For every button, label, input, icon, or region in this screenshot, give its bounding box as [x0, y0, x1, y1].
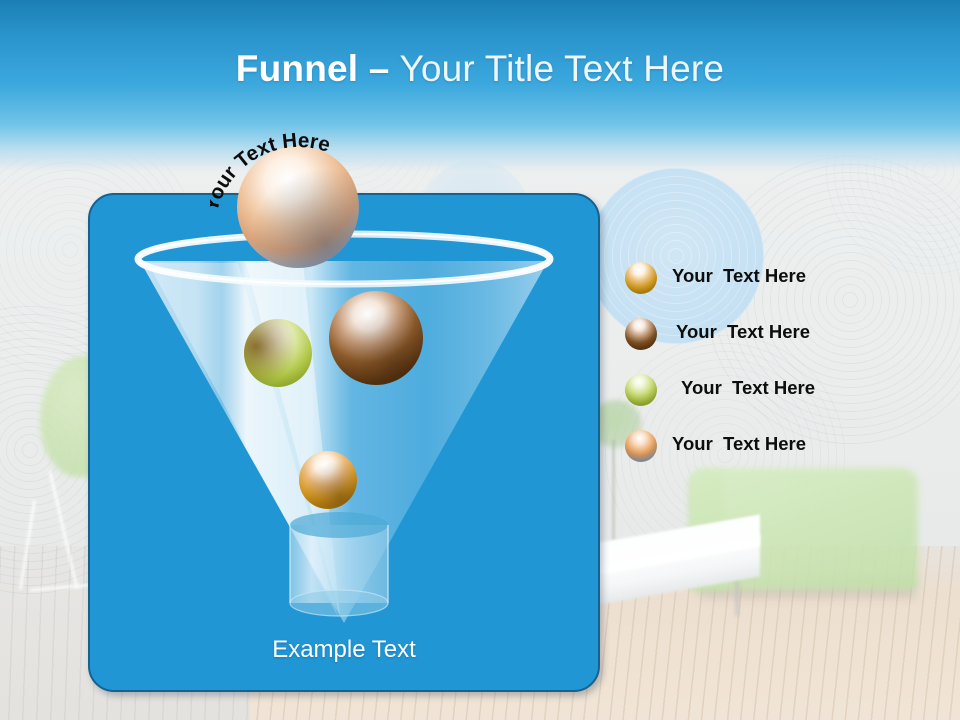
legend-item-label: Your Text Here — [672, 265, 806, 287]
bullet-sphere-gold-icon — [624, 261, 658, 295]
bullet-sphere-green-icon — [624, 373, 658, 407]
legend-item-label: Your Text Here — [672, 433, 806, 455]
bullet-sphere-tan-icon — [624, 429, 658, 463]
legend-item-label: Your Text Here — [676, 321, 810, 343]
slide-canvas: Funnel – Your Title Text Here Example Te… — [0, 0, 960, 720]
funnel-top-ball-group: Your Text Here — [210, 125, 395, 270]
legend-item[interactable]: Your Text Here — [624, 367, 944, 423]
panel-caption: Example Text — [90, 636, 598, 664]
page-title-bold: Funnel – — [236, 48, 390, 89]
legend-item-label: Your Text Here — [681, 377, 815, 399]
background-table-leg — [735, 580, 739, 616]
legend-item[interactable]: Your Text Here — [624, 255, 944, 311]
legend-list: Your Text Here Your Text Here — [624, 255, 944, 479]
page-title-light: Your Title Text Here — [399, 48, 724, 89]
legend-item[interactable]: Your Text Here — [624, 423, 944, 479]
page-title: Funnel – Your Title Text Here — [0, 48, 960, 90]
legend-item[interactable]: Your Text Here — [624, 311, 944, 367]
bullet-sphere-brown-icon — [624, 317, 658, 351]
